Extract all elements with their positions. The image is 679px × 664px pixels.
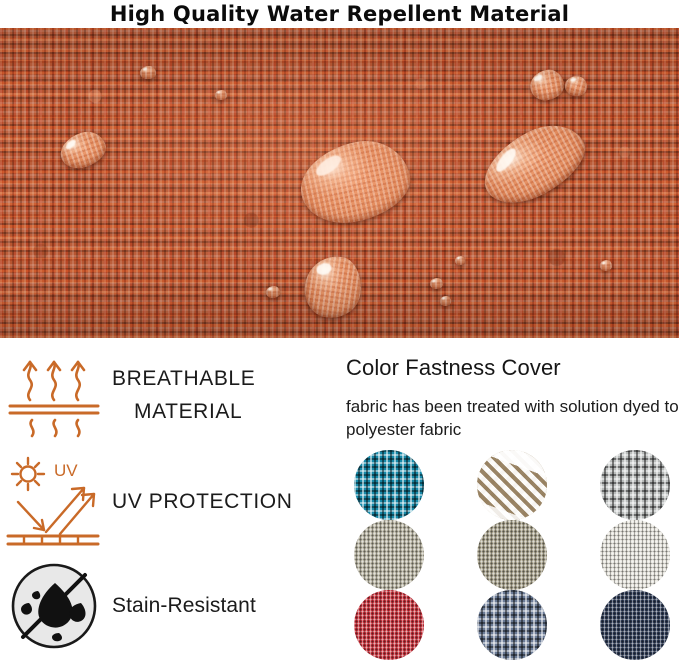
color-fastness-description: fabric has been treated with solution dy… [346, 396, 679, 442]
color-fastness-section: Color Fastness Cover fabric has been tre… [344, 338, 679, 664]
swatch-cream[interactable] [600, 520, 670, 590]
feature-breathable: BREATHABLE MATERIAL [0, 344, 335, 448]
stain-resistant-label: Stain-Resistant [112, 594, 335, 618]
breathable-label-line2: MATERIAL [112, 396, 335, 429]
feature-list: BREATHABLE MATERIAL [0, 338, 335, 664]
uv-icon-text: UV [54, 461, 78, 480]
swatch-denim-blue[interactable] [477, 590, 547, 660]
swatch-texture [600, 590, 670, 660]
uv-label-box: UV PROTECTION [108, 486, 335, 519]
uv-protection-label: UV PROTECTION [112, 486, 335, 519]
swatch-texture [354, 450, 424, 520]
swatch-texture [477, 590, 547, 660]
breathable-label-line1: BREATHABLE [112, 367, 255, 390]
swatch-texture [354, 520, 424, 590]
swatch-grid [346, 450, 678, 660]
breathable-label: BREATHABLE MATERIAL [112, 363, 335, 428]
feature-uv-protection: UV UV PROTECTION [0, 450, 335, 554]
fabric-shading [0, 28, 679, 338]
stain-resistant-icon [0, 563, 108, 649]
swatch-grey-white[interactable] [600, 450, 670, 520]
swatch-texture [477, 520, 547, 590]
color-fastness-title: Color Fastness Cover [346, 355, 561, 381]
uv-protection-icon: UV [0, 454, 108, 550]
feature-stain-resistant: Stain-Resistant [0, 558, 335, 654]
page-title-bar: High Quality Water Repellent Material [0, 0, 679, 28]
swatch-texture [600, 450, 670, 520]
stain-label-box: Stain-Resistant [108, 594, 335, 618]
swatch-texture [354, 590, 424, 660]
swatch-taupe[interactable] [477, 520, 547, 590]
hero-fabric-image [0, 28, 679, 338]
swatch-light-grey[interactable] [354, 520, 424, 590]
swatch-beige-stripe[interactable] [477, 450, 547, 520]
swatch-teal[interactable] [354, 450, 424, 520]
page-title: High Quality Water Repellent Material [110, 2, 569, 26]
breathable-label-box: BREATHABLE MATERIAL [108, 363, 335, 428]
swatch-navy[interactable] [600, 590, 670, 660]
swatch-red[interactable] [354, 590, 424, 660]
swatch-texture-overlay [477, 450, 547, 520]
swatch-texture [600, 520, 670, 590]
breathable-icon [0, 350, 108, 442]
